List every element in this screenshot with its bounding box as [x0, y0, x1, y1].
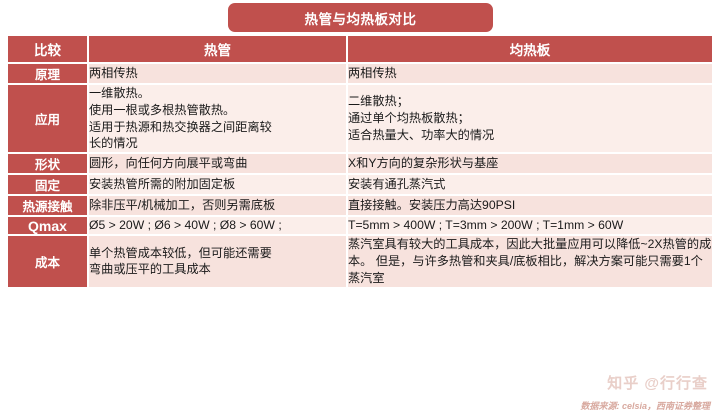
text-line: 使用一根或多根热管散热。 [89, 102, 346, 119]
cell-shape-heatpipe: 圆形，向任何方向展平或弯曲 [88, 153, 347, 174]
table-row: 固定 安装热管所需的附加固定板 安装有通孔蒸汽式 [8, 174, 712, 195]
cell-cost-vaporchamber: 蒸汽室具有较大的工具成本，因此大批量应用可以降低~2X热管的成本。 但是，与许多… [347, 235, 712, 286]
table-header-row: 比较 热管 均热板 [8, 36, 712, 63]
text-line: 单个热管成本较低，但可能还需要 [89, 245, 346, 262]
cell-mounting-vaporchamber: 安装有通孔蒸汽式 [347, 174, 712, 195]
cell-contact-vaporchamber: 直接接触。安装压力高达90PSI [347, 195, 712, 216]
column-header-vaporchamber: 均热板 [347, 36, 712, 63]
text-line: 弯曲或压平的工具成本 [89, 261, 346, 278]
chart-title-banner: 热管与均热板对比 [228, 3, 493, 32]
text-line: 一维散热。 [89, 85, 346, 102]
table-row: 原理 两相传热 两相传热 [8, 63, 712, 84]
row-label-mounting: 固定 [8, 174, 88, 195]
table-row: Qmax Ø5 > 20W ; Ø6 > 40W ; Ø8 > 60W ; T=… [8, 216, 712, 235]
row-label-cost: 成本 [8, 235, 88, 286]
cell-application-heatpipe: 一维散热。 使用一根或多根热管散热。 适用于热源和热交换器之间距离较 长的情况 [88, 84, 347, 153]
cell-principle-vaporchamber: 两相传热 [347, 63, 712, 84]
text-line: 长的情况 [89, 135, 346, 152]
table-row: 应用 一维散热。 使用一根或多根热管散热。 适用于热源和热交换器之间距离较 长的… [8, 84, 712, 153]
column-header-heatpipe: 热管 [88, 36, 347, 63]
table-row: 形状 圆形，向任何方向展平或弯曲 X和Y方向的复杂形状与基座 [8, 153, 712, 174]
cell-contact-heatpipe: 除非压平/机械加工，否则另需底板 [88, 195, 347, 216]
column-header-criteria: 比较 [8, 36, 88, 63]
cell-mounting-heatpipe: 安装热管所需的附加固定板 [88, 174, 347, 195]
row-label-qmax: Qmax [8, 216, 88, 235]
row-label-shape: 形状 [8, 153, 88, 174]
text-line: 两相传热 [348, 65, 712, 82]
text-line: 二维散热； [348, 93, 712, 110]
text-line: X和Y方向的复杂形状与基座 [348, 155, 712, 172]
comparison-table: 比较 热管 均热板 原理 两相传热 两相传热 应用 一维散热。 使用一根或多根 [8, 36, 712, 287]
cell-qmax-heatpipe: Ø5 > 20W ; Ø6 > 40W ; Ø8 > 60W ; [88, 216, 347, 235]
row-label-application: 应用 [8, 84, 88, 153]
text-line: 直接接触。安装压力高达90PSI [348, 197, 712, 214]
cell-cost-heatpipe: 单个热管成本较低，但可能还需要 弯曲或压平的工具成本 [88, 235, 347, 286]
zhihu-watermark: 知乎 @行行查 [607, 372, 708, 393]
text-line: 圆形，向任何方向展平或弯曲 [89, 155, 346, 172]
text-line: Ø5 > 20W ; Ø6 > 40W ; Ø8 > 60W ; [89, 217, 282, 234]
row-label-heat-source-contact: 热源接触 [8, 195, 88, 216]
text-line: T=5mm > 400W ; T=3mm > 200W ; T=1mm > 60… [348, 217, 712, 234]
row-label-principle: 原理 [8, 63, 88, 84]
text-line: 除非压平/机械加工，否则另需底板 [89, 197, 346, 214]
text-line: 蒸汽室具有较大的工具成本，因此大批量应用可以降低~2X热管的成本。 但是，与许多… [348, 236, 712, 286]
cell-shape-vaporchamber: X和Y方向的复杂形状与基座 [347, 153, 712, 174]
table-row: 成本 单个热管成本较低，但可能还需要 弯曲或压平的工具成本 蒸汽室具有较大的工具… [8, 235, 712, 286]
text-line: 两相传热 [89, 65, 346, 82]
text-line: 适合热量大、功率大的情况 [348, 127, 712, 144]
cell-qmax-vaporchamber: T=5mm > 400W ; T=3mm > 200W ; T=1mm > 60… [347, 216, 712, 235]
table-row: 热源接触 除非压平/机械加工，否则另需底板 直接接触。安装压力高达90PSI [8, 195, 712, 216]
cell-application-vaporchamber: 二维散热； 通过单个均热板散热； 适合热量大、功率大的情况 [347, 84, 712, 153]
text-line: 通过单个均热板散热； [348, 110, 712, 127]
source-attribution: 数据来源: celsia，西南证券整理 [580, 399, 710, 412]
text-line: 适用于热源和热交换器之间距离较 [89, 119, 346, 136]
page-title: 热管与均热板对比 [305, 8, 417, 28]
text-line: 安装有通孔蒸汽式 [348, 176, 712, 193]
cell-principle-heatpipe: 两相传热 [88, 63, 347, 84]
text-line: 安装热管所需的附加固定板 [89, 176, 346, 193]
comparison-infographic: 热管与均热板对比 比较 热管 均热板 原理 两相传热 两相传热 [0, 0, 720, 415]
